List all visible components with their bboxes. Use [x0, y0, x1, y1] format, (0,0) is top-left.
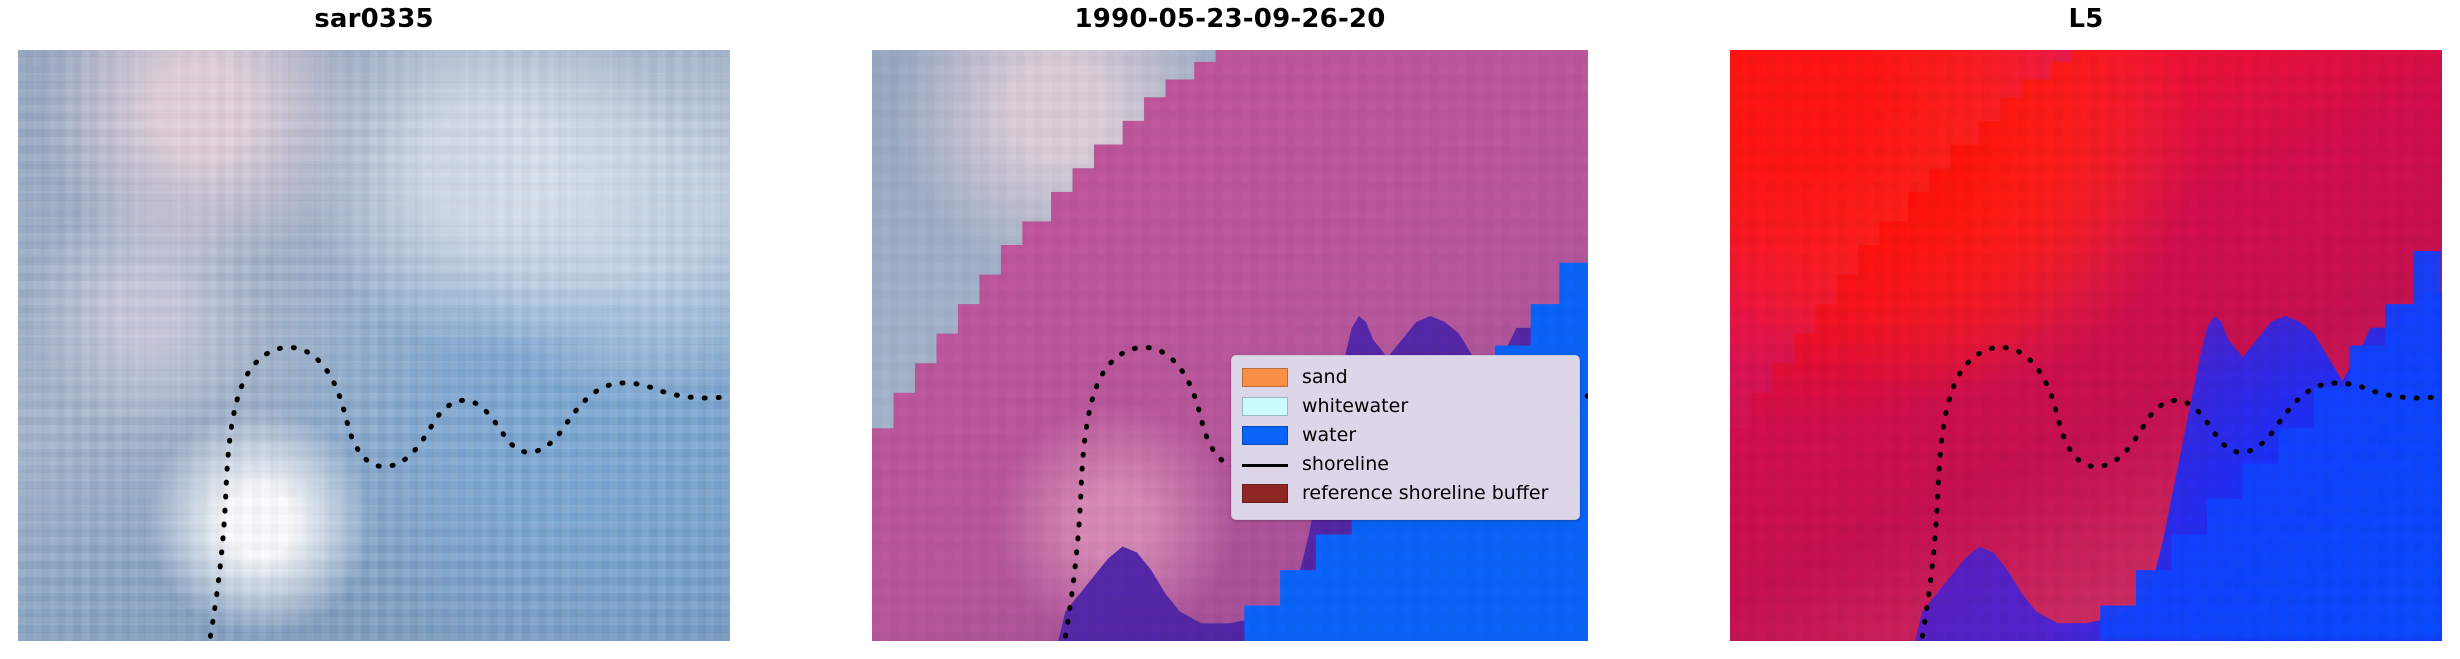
water-swatch-icon [1242, 426, 1288, 445]
shoreline-overlay-classification [872, 50, 1588, 641]
panel-title-sar: sar0335 [18, 4, 730, 34]
image-panel-classification[interactable] [872, 50, 1588, 641]
legend-item-shoreline[interactable]: shoreline [1242, 450, 1569, 479]
legend-item-reference-shoreline-buffer[interactable]: reference shoreline buffer [1242, 479, 1569, 508]
panel-title-date: 1990-05-23-09-26-20 [872, 4, 1588, 34]
shoreline-line-icon [1242, 464, 1288, 467]
shoreline-overlay-sar [18, 50, 730, 641]
legend-label-shoreline: shoreline [1302, 455, 1389, 474]
legend-label-sand: sand [1302, 368, 1348, 387]
whitewater-swatch-icon [1242, 397, 1288, 416]
sand-swatch-icon [1242, 368, 1288, 387]
shoreline-overlay-l5 [1730, 50, 2442, 641]
legend-label-whitewater: whitewater [1302, 397, 1408, 416]
legend-item-sand[interactable]: sand [1242, 363, 1569, 392]
legend-label-reference-shoreline-buffer: reference shoreline buffer [1302, 484, 1548, 503]
legend-item-water[interactable]: water [1242, 421, 1569, 450]
image-panel-l5[interactable] [1730, 50, 2442, 641]
image-panel-sar[interactable] [18, 50, 730, 641]
legend-item-whitewater[interactable]: whitewater [1242, 392, 1569, 421]
panel-title-l5: L5 [1730, 4, 2442, 34]
reference-shoreline-buffer-swatch-icon [1242, 484, 1288, 503]
legend-box[interactable]: sand whitewater water shoreline referenc… [1231, 355, 1580, 520]
figure-canvas: sar0335 1990-05-23-09-26-20 L5 [0, 0, 2460, 659]
legend-label-water: water [1302, 426, 1356, 445]
